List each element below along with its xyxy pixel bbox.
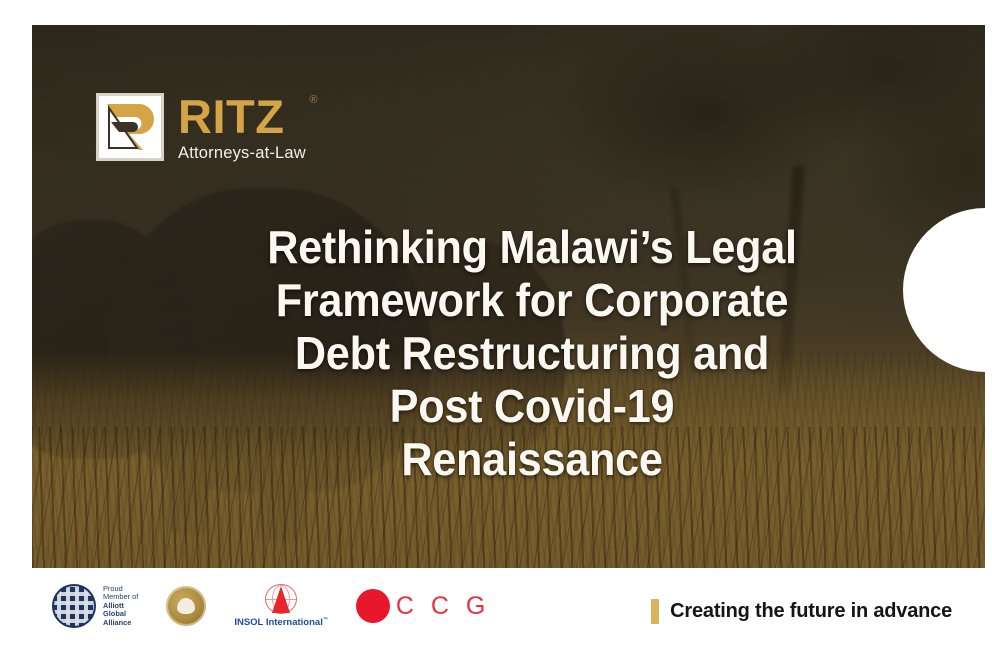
- brand-name: RITZ®: [178, 93, 306, 140]
- page-title: Rethinking Malawi’s Legal Framework for …: [182, 221, 882, 486]
- insol-triangle: [272, 586, 290, 613]
- red-circle-icon: [356, 589, 390, 623]
- aga-line-5: Alliance: [103, 619, 138, 628]
- title-line-2: Framework for Corporate: [203, 274, 861, 327]
- seal-emblem: [177, 598, 195, 614]
- ritz-r-monogram-icon: [96, 93, 164, 161]
- title-line-1: Rethinking Malawi’s Legal: [203, 221, 861, 274]
- company-tagline: Creating the future in advance: [651, 599, 952, 624]
- hero-photo: RITZ® Attorneys-at-Law Rethinking Malawi…: [32, 25, 985, 568]
- title-slide: RITZ® Attorneys-at-Law Rethinking Malawi…: [0, 0, 992, 658]
- membership-logos: Proud Member of Alliott Global Alliance …: [52, 584, 490, 628]
- tagline-accent-bar: [651, 599, 659, 624]
- alliott-global-alliance-label: Proud Member of Alliott Global Alliance: [103, 585, 138, 628]
- alliott-global-alliance-logo: Proud Member of Alliott Global Alliance: [52, 584, 138, 628]
- registered-trademark-icon: ®: [309, 95, 318, 106]
- title-line-4: Post Covid-19: [203, 380, 861, 433]
- brand-logo-lockup: RITZ® Attorneys-at-Law: [96, 93, 306, 162]
- insol-triangle-globe-icon: [261, 584, 301, 614]
- title-line-3: Debt Restructuring and: [203, 327, 861, 380]
- insol-label: INSOL International™: [234, 617, 328, 628]
- title-line-5: Renaissance: [203, 433, 861, 486]
- tagline-text: Creating the future in advance: [670, 600, 952, 623]
- trademark-icon: ™: [323, 617, 328, 623]
- brand-tagline: Attorneys-at-Law: [178, 145, 306, 162]
- ccg-logo: C C G: [356, 589, 490, 623]
- footer: Proud Member of Alliott Global Alliance …: [0, 568, 992, 658]
- brand-wordmark: RITZ® Attorneys-at-Law: [178, 93, 306, 162]
- gold-seal-icon: [166, 586, 206, 626]
- checkered-globe-icon: [52, 584, 96, 628]
- insol-international-logo: INSOL International™: [234, 584, 328, 628]
- ccg-label: C C G: [396, 592, 490, 621]
